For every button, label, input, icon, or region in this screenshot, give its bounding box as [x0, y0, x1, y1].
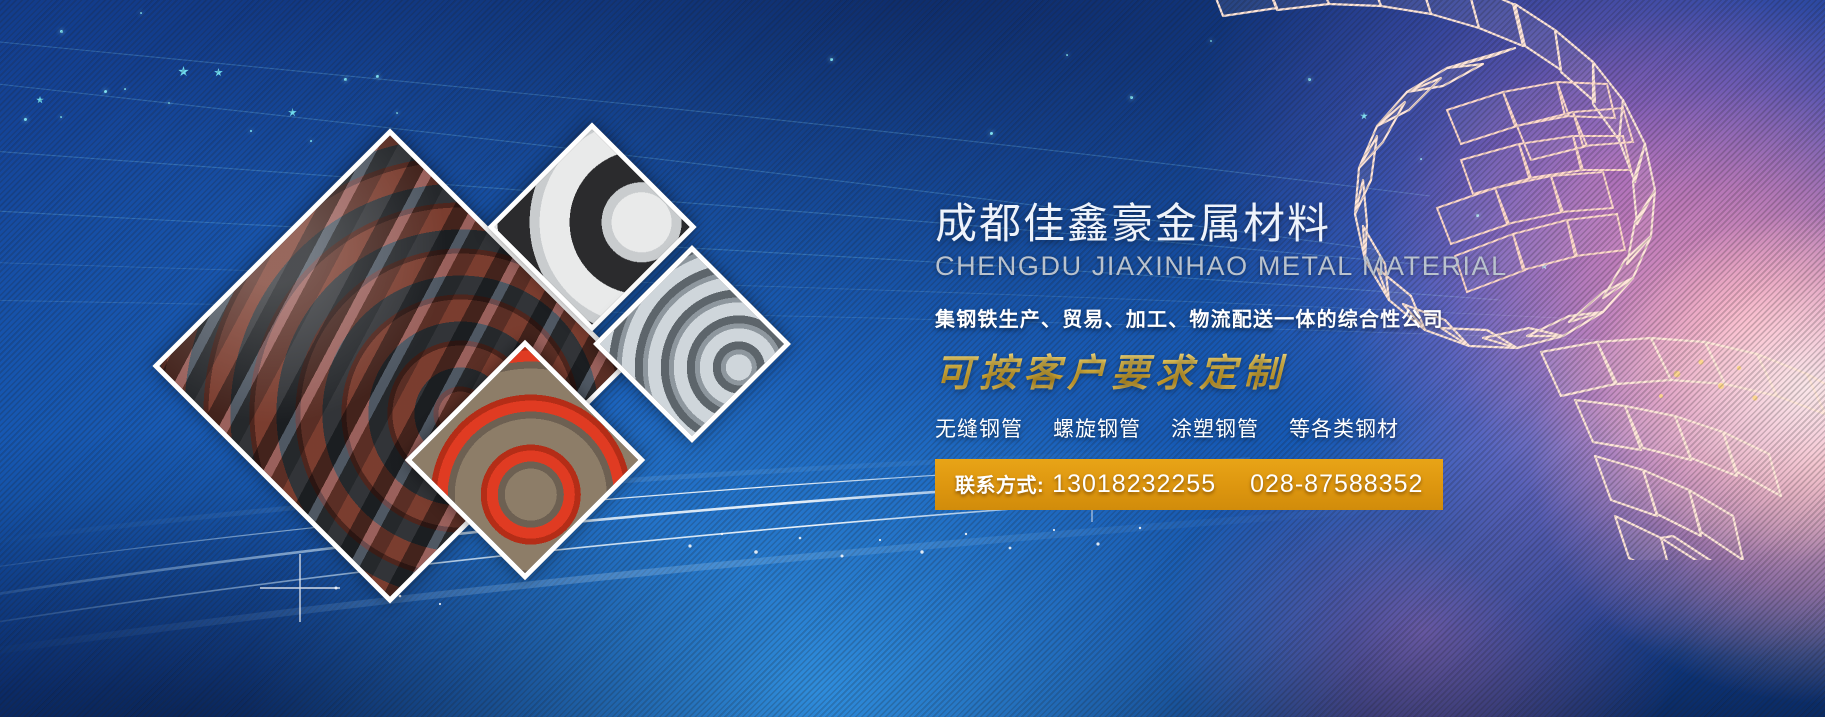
- company-name-cn: 成都佳鑫豪金属材料: [935, 200, 1575, 249]
- company-tagline: 集钢铁生产、贸易、加工、物流配送一体的综合性公司: [935, 303, 1575, 332]
- product-list: 无缝钢管螺旋钢管涂塑钢管等各类钢材: [935, 413, 1575, 443]
- contact-phone-landline[interactable]: 028-87588352: [1250, 470, 1423, 498]
- product-item-other: 等各类钢材: [1289, 418, 1399, 441]
- custom-order-headline: 可按客户要求定制: [935, 342, 1575, 397]
- contact-phone-mobile[interactable]: 13018232255: [1052, 470, 1216, 498]
- banner-copy: 成都佳鑫豪金属材料 CHENGDU JIAXINHAO METAL MATERI…: [935, 200, 1575, 510]
- company-name-en: CHENGDU JIAXINHAO METAL MATERIAL: [935, 251, 1575, 281]
- promotional-banner: 成都佳鑫豪金属材料 CHENGDU JIAXINHAO METAL MATERI…: [0, 0, 1825, 717]
- product-item-coated: 涂塑钢管: [1171, 418, 1259, 441]
- contact-bar[interactable]: 联系方式:13018232255028-87588352: [935, 459, 1443, 510]
- contact-label: 联系方式:: [955, 475, 1044, 497]
- product-item-seamless: 无缝钢管: [935, 418, 1023, 441]
- product-item-spiral: 螺旋钢管: [1053, 418, 1141, 441]
